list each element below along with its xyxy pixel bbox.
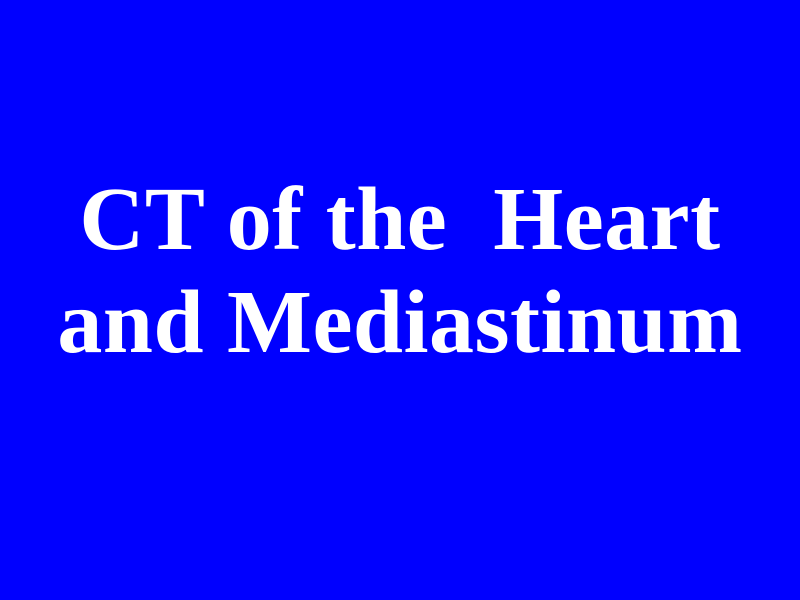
slide-title-line-1: CT of the Heart (0, 168, 800, 271)
slide-title: CT of the Heart and Mediastinum (0, 168, 800, 374)
slide-title-line-2: and Mediastinum (0, 271, 800, 374)
presentation-slide: CT of the Heart and Mediastinum (0, 0, 800, 600)
